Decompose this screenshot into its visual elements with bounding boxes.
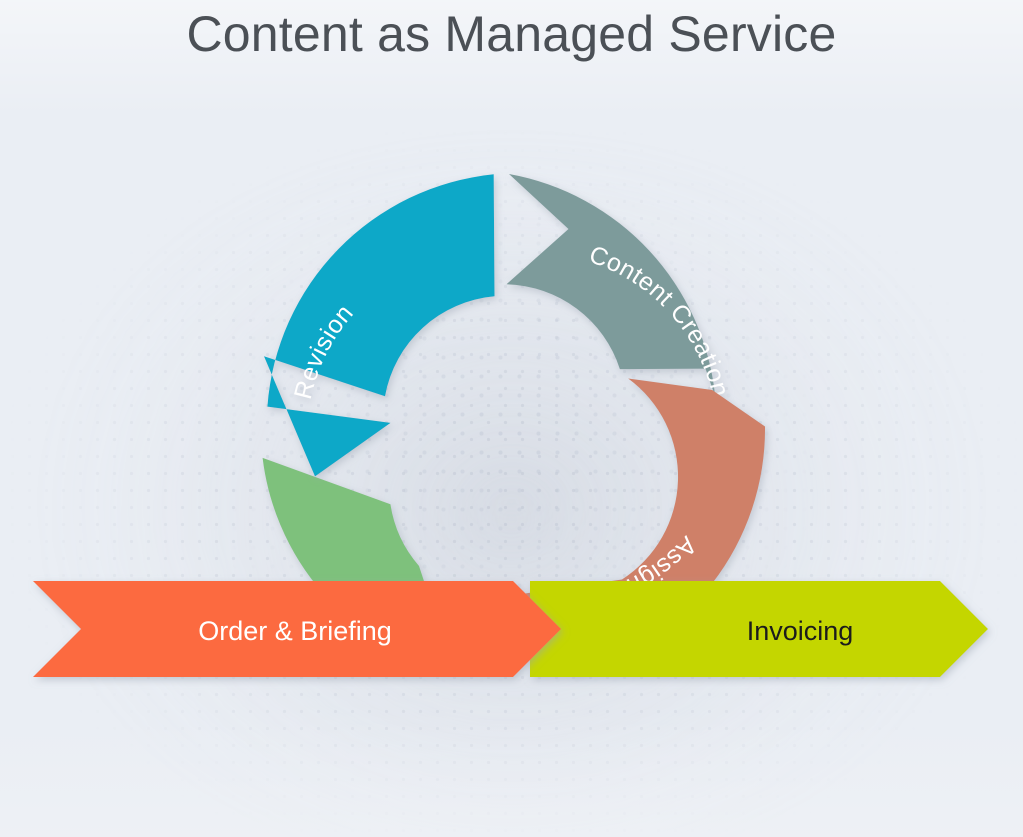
cycle-segment-content-creation[interactable]: Content Creation (507, 174, 735, 400)
cycle-segment-revision[interactable]: Revision (264, 174, 495, 476)
banner-order-briefing-label: Order & Briefing (198, 616, 392, 646)
slide-canvas: Content as Managed Service Revision (0, 0, 1023, 837)
banner-invoicing[interactable]: Invoicing (530, 581, 988, 677)
cycle-diagram: Revision Content Creation Assignment Inv… (0, 0, 1023, 837)
banner-order-briefing[interactable]: Order & Briefing (33, 581, 561, 677)
cycle-segment-revision-shape (264, 174, 495, 476)
cycle-segment-content-creation-shape (507, 174, 716, 397)
banner-invoicing-label: Invoicing (747, 616, 854, 646)
